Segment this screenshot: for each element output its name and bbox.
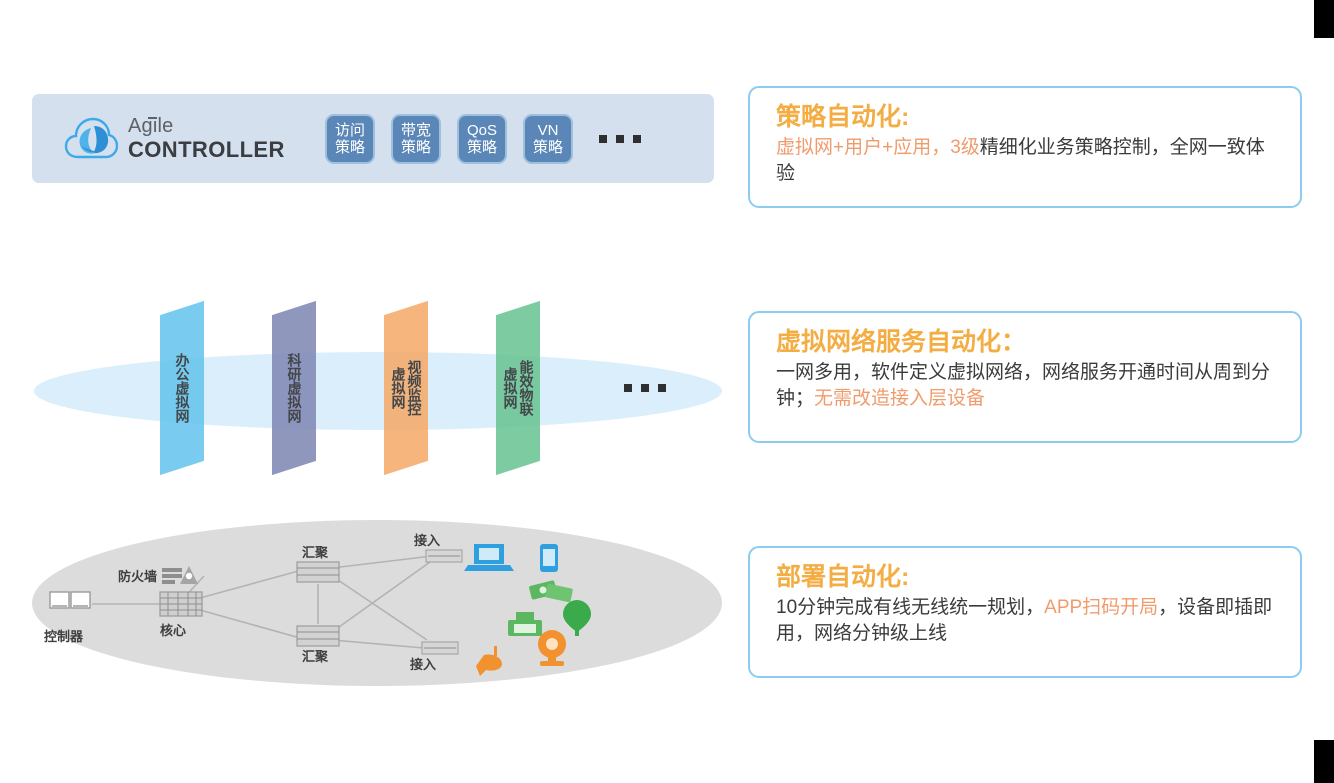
policy-chip-line1: 访问 bbox=[335, 122, 365, 139]
panel-policy-automation: 策略自动化: 虚拟网+用户+应用，3级精细化业务策略控制，全网一致体验 bbox=[748, 86, 1302, 208]
dot bbox=[633, 135, 641, 143]
panel-body-highlight: 虚拟网+用户+应用，3级 bbox=[776, 137, 980, 158]
panel-body-highlight: APP扫码开局 bbox=[1044, 597, 1158, 618]
network-topology-diagram: 控制器 防火墙 核心 汇聚 汇聚 接入 接入 bbox=[32, 520, 722, 686]
panel-title: 虚拟网络服务自动化： bbox=[776, 327, 1278, 357]
topology-label-core: 核心 bbox=[160, 620, 186, 639]
dome-camera-icon bbox=[476, 646, 502, 676]
vnet-plane-label-group: 能效物联 虚拟网 bbox=[496, 308, 540, 468]
dot bbox=[641, 384, 649, 392]
vnet-plane-label: 视频监控 bbox=[407, 360, 422, 416]
topology-label-firewall: 防火墙 bbox=[118, 566, 157, 585]
core-switch-icon bbox=[160, 592, 202, 616]
panel-body: 一网多用，软件定义虚拟网络，网络服务开通时间从周到分钟；无需改造接入层设备 bbox=[776, 360, 1278, 412]
policy-chip-access[interactable]: 访问 策略 bbox=[325, 114, 375, 164]
panel-body: 虚拟网+用户+应用，3级精细化业务策略控制，全网一致体验 bbox=[776, 135, 1278, 187]
policy-chip-line2: 策略 bbox=[533, 139, 563, 156]
dot bbox=[624, 384, 632, 392]
topology-label-access-bottom: 接入 bbox=[410, 654, 436, 673]
firewall-icon bbox=[162, 566, 198, 584]
vnet-plane-label: 办公虚拟网 bbox=[175, 353, 190, 423]
more-vnets-ellipsis-icon[interactable] bbox=[624, 384, 666, 392]
vnet-plane-label-group: 办公虚拟网 bbox=[160, 308, 204, 468]
vnet-plane-label: 科研虚拟网 bbox=[287, 353, 302, 423]
policy-chip-line2: 策略 bbox=[335, 139, 365, 156]
dot bbox=[599, 135, 607, 143]
policy-chip-qos[interactable]: QoS 策略 bbox=[457, 114, 507, 164]
dot bbox=[616, 135, 624, 143]
network-backbone-ellipse bbox=[34, 352, 722, 430]
laptop-icon bbox=[464, 544, 514, 571]
panel-deployment-automation: 部署自动化: 10分钟完成有线无线统一规划，APP扫码开局，设备即插即用，网络分… bbox=[748, 546, 1302, 678]
agile-controller-logo: Agile CONTROLLER bbox=[64, 116, 309, 162]
access-switch-bottom-icon bbox=[422, 642, 458, 654]
panel-body-highlight: 无需改造接入层设备 bbox=[814, 388, 985, 409]
access-switch-top-icon bbox=[426, 550, 462, 562]
policy-chip-vn[interactable]: VN 策略 bbox=[523, 114, 573, 164]
vnet-plane-office: 办公虚拟网 bbox=[160, 301, 204, 475]
vnet-plane-energy-iot: 能效物联 虚拟网 bbox=[496, 301, 540, 475]
tablet-icon bbox=[540, 544, 558, 572]
panel-virtual-network-service-automation: 虚拟网络服务自动化： 一网多用，软件定义虚拟网络，网络服务开通时间从周到分钟；无… bbox=[748, 311, 1302, 443]
panel-title: 部署自动化: bbox=[776, 562, 1278, 592]
logo-controller-text: CONTROLLER bbox=[128, 139, 285, 161]
policy-chip-line1: VN bbox=[538, 122, 559, 139]
webcam-icon bbox=[538, 630, 566, 666]
panel-title: 策略自动化: bbox=[776, 102, 1278, 132]
cloud-swirl-icon bbox=[64, 116, 118, 162]
dot bbox=[658, 384, 666, 392]
cash-icon bbox=[529, 580, 573, 602]
virtual-network-planes-diagram: 办公虚拟网 科研虚拟网 视频监控 虚拟网 能效物联 虚拟网 bbox=[32, 296, 722, 486]
edge-bar-bottom bbox=[1314, 740, 1334, 783]
policy-chip-line2: 策略 bbox=[467, 139, 497, 156]
policy-chip-line1: QoS bbox=[467, 122, 497, 139]
policy-chip-line1: 带宽 bbox=[401, 122, 431, 139]
topology-graphic bbox=[32, 520, 722, 686]
topology-label-aggregation-top: 汇聚 bbox=[302, 542, 328, 561]
vnet-plane-label-group: 视频监控 虚拟网 bbox=[384, 308, 428, 468]
vnet-plane-video-surveillance: 视频监控 虚拟网 bbox=[384, 301, 428, 475]
edge-bar-top bbox=[1314, 0, 1334, 38]
printer-icon bbox=[508, 612, 542, 636]
panel-body-pre: 10分钟完成有线无线统一规划， bbox=[776, 597, 1044, 618]
aggregation-switch-bottom-icon bbox=[297, 626, 339, 646]
vnet-plane-label: 能效物联 bbox=[519, 360, 534, 416]
topology-label-controller: 控制器 bbox=[44, 626, 83, 645]
topology-label-access-top: 接入 bbox=[414, 530, 440, 549]
panel-body: 10分钟完成有线无线统一规划，APP扫码开局，设备即插即用，网络分钟级上线 bbox=[776, 595, 1278, 647]
more-policies-ellipsis-icon[interactable] bbox=[599, 135, 641, 143]
policy-chip-bandwidth[interactable]: 带宽 策略 bbox=[391, 114, 441, 164]
agile-controller-bar: Agile CONTROLLER 访问 策略 带宽 策略 QoS 策略 VN 策… bbox=[32, 94, 714, 183]
policy-chip-line2: 策略 bbox=[401, 139, 431, 156]
vnet-plane-label-2: 虚拟网 bbox=[503, 367, 518, 409]
vnet-plane-label-2: 虚拟网 bbox=[391, 367, 406, 409]
aggregation-switch-top-icon bbox=[297, 562, 339, 582]
logo-agile-text: Agile bbox=[128, 116, 173, 136]
tree-icon bbox=[563, 600, 591, 636]
controller-icon bbox=[50, 592, 90, 608]
topology-label-aggregation-bottom: 汇聚 bbox=[302, 646, 328, 665]
vnet-plane-research: 科研虚拟网 bbox=[272, 301, 316, 475]
vnet-plane-label-group: 科研虚拟网 bbox=[272, 308, 316, 468]
